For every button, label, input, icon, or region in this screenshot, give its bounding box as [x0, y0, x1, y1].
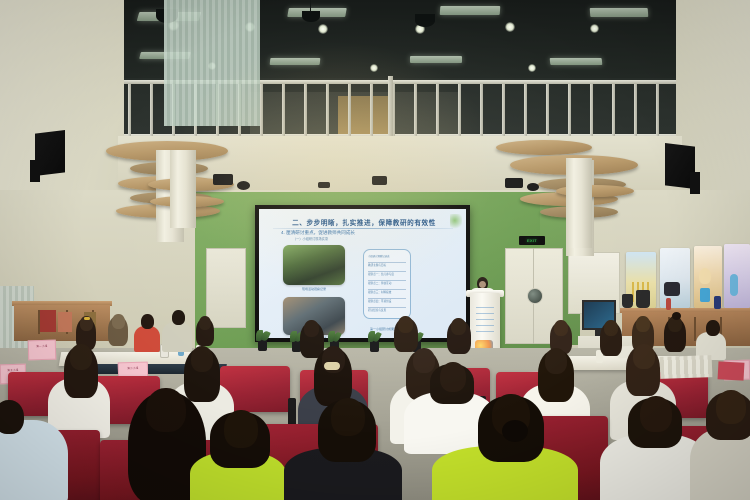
ceiling-projector	[505, 178, 523, 188]
ceiling-camera	[527, 183, 539, 191]
slide-list-item: 观察点三：材料投放	[368, 290, 391, 294]
right-speaker-bracket	[690, 172, 700, 194]
projection-screen: 二、步步明晰，扎实推进，保障教研的有效性 4. 厘清研讨重点，促进教师共同成长 …	[255, 205, 470, 342]
ceiling-fluorescent-light	[550, 58, 603, 65]
chair-name-card: 第一小组	[28, 340, 57, 361]
artwork-motif	[664, 282, 680, 296]
left-pillar	[170, 150, 196, 228]
childrens-artwork-panel	[660, 248, 690, 308]
presenter-face	[479, 281, 486, 288]
lecture-hall-photo: EXIT 二、步步明晰，扎实推进，保障教研的有效性 4. 厘清研讨重点，促进教师…	[0, 0, 750, 500]
artwork-motif	[730, 274, 738, 296]
ceiling-spotlight	[505, 22, 515, 32]
name-card-label: 第一小组	[29, 344, 55, 349]
ceiling-camera	[237, 181, 250, 190]
door-porthole-window	[527, 288, 543, 304]
exit-sign-label: EXIT	[527, 238, 537, 243]
ceiling-fluorescent-light	[270, 58, 321, 65]
presentation-slide: 二、步步明晰，扎实推进，保障教研的有效性 4. 厘清研讨重点，促进教师共同成长 …	[259, 209, 466, 338]
pendant-speaker	[415, 14, 435, 27]
artwork-motif	[699, 268, 711, 284]
ceiling-fluorescent-light	[590, 8, 649, 17]
ceiling-device	[318, 182, 330, 188]
binder-on-shelf	[58, 312, 72, 332]
slide-title: 二、步步明晰，扎实推进，保障教研的有效性	[269, 217, 459, 227]
exit-sign: EXIT	[519, 236, 545, 245]
ceiling-spotlight	[370, 64, 378, 72]
wall-panel-left	[206, 248, 246, 328]
mezzanine-upper-level	[120, 0, 680, 140]
ceiling-spotlight	[528, 64, 536, 72]
slide-subtitle-small: （一）小组研讨现场实录	[293, 236, 413, 241]
pendant-speaker	[302, 11, 320, 22]
right-pillar	[566, 158, 592, 248]
slide-list-item: 观察点四：环境创设	[368, 299, 391, 303]
ceiling-spotlight	[318, 24, 328, 34]
slide-title-rule	[273, 228, 453, 229]
slide-list-item: 观察点二：师幼互动	[368, 281, 391, 285]
slide-list-item: 观察点一：幼儿参与度	[368, 272, 394, 276]
left-speaker-bracket	[30, 160, 40, 182]
slide-photo-outdoor-activity	[283, 245, 345, 285]
slide-list-title: 小组研讨观察记录表	[368, 254, 390, 258]
slide-photo1-caption: 现场活动观察记录	[283, 287, 345, 291]
ceiling-projector	[213, 174, 233, 185]
binder-on-shelf	[40, 310, 56, 332]
red-folder	[718, 361, 745, 380]
mezzanine-curtain	[164, 0, 260, 126]
ceiling-fluorescent-light	[440, 6, 501, 15]
bottle-on-cabinet	[666, 298, 671, 310]
artwork-motif	[700, 288, 710, 302]
ceiling-fluorescent-light	[410, 56, 462, 63]
ceiling-projector	[372, 176, 387, 185]
bag-on-cabinet	[636, 290, 650, 308]
slide-list-item: 教研主题与目标	[368, 263, 386, 267]
ceiling-spotlight	[590, 24, 599, 33]
stacked-binders	[660, 355, 713, 379]
bottle-on-cabinet	[714, 296, 721, 309]
box-on-cabinet	[622, 294, 633, 308]
slide-observation-table: 小组研讨观察记录表 教研主题与目标 观察点一：幼儿参与度 观察点二：师幼互动 观…	[363, 249, 411, 319]
slide-list-item: 研讨结论与反思	[368, 308, 386, 312]
name-card-label: 第二小组	[119, 366, 147, 371]
